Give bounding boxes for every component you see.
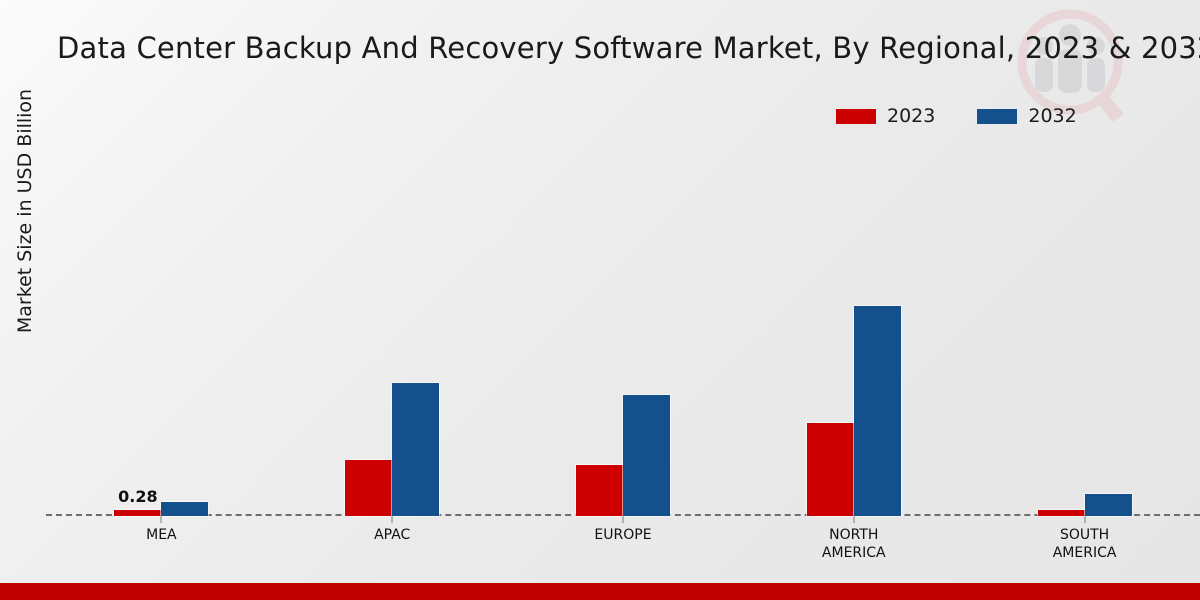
x-axis-tick [622, 516, 623, 523]
bar-2023[interactable] [345, 460, 392, 516]
x-axis-tick [161, 516, 162, 523]
bar-2032[interactable] [161, 502, 208, 516]
bar-pair: 0.28 [114, 502, 208, 516]
bar-2032[interactable] [1085, 494, 1132, 516]
legend-swatch-2032 [977, 109, 1017, 124]
bar-pair [345, 383, 439, 516]
bar-group: APAC [277, 140, 508, 516]
bar-group: SOUTH AMERICA [969, 140, 1200, 516]
bar-2023[interactable]: 0.28 [114, 510, 161, 516]
chart-figure: Data Center Backup And Recovery Software… [0, 0, 1200, 600]
bar-2032[interactable] [623, 395, 670, 516]
chart-legend: 2023 2032 [836, 105, 1077, 127]
x-axis-tick [1084, 516, 1085, 523]
bar-2023[interactable] [1038, 510, 1085, 516]
x-axis-category-label: MEA [146, 526, 177, 544]
x-axis-tick [392, 516, 393, 523]
legend-item-2023[interactable]: 2023 [836, 105, 935, 127]
x-axis-category-label: NORTH AMERICA [822, 526, 886, 562]
bar-group: 0.28MEA [46, 140, 277, 516]
bar-pair [1038, 494, 1132, 516]
legend-label-2023: 2023 [887, 105, 935, 127]
bar-pair [576, 395, 670, 516]
plot-area: 0.28MEAAPACEUROPENORTH AMERICASOUTH AMER… [46, 140, 1200, 516]
bar-2023[interactable] [807, 423, 854, 516]
bar-2032[interactable] [854, 306, 901, 516]
legend-label-2032: 2032 [1028, 105, 1076, 127]
bar-value-label: 0.28 [118, 487, 157, 506]
x-axis-category-label: SOUTH AMERICA [1053, 526, 1117, 562]
chart-title: Data Center Backup And Recovery Software… [57, 31, 1200, 65]
bar-group: NORTH AMERICA [738, 140, 969, 516]
bar-group: EUROPE [508, 140, 739, 516]
legend-item-2032[interactable]: 2032 [977, 105, 1076, 127]
y-axis-title: Market Size in USD Billion [14, 46, 36, 376]
bar-groups: 0.28MEAAPACEUROPENORTH AMERICASOUTH AMER… [46, 140, 1200, 516]
bar-2032[interactable] [392, 383, 439, 516]
legend-swatch-2023 [836, 109, 876, 124]
footer-accent-bar [0, 583, 1200, 600]
x-axis-tick [853, 516, 854, 523]
bar-pair [807, 306, 901, 516]
x-axis-category-label: APAC [374, 526, 410, 544]
x-axis-category-label: EUROPE [594, 526, 651, 544]
bar-2023[interactable] [576, 465, 623, 516]
